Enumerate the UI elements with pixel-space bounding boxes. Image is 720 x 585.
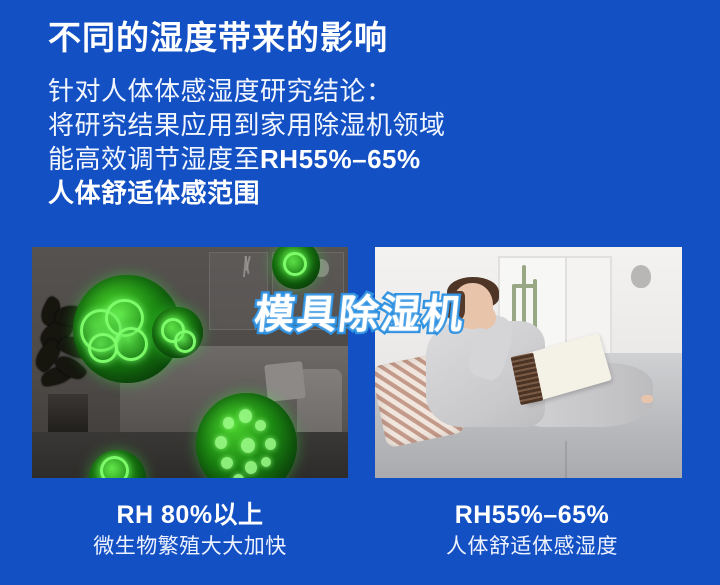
mold-dot [215,436,227,448]
dark-cushion [264,361,306,402]
body-line-1: 针对人体体感湿度研究结论： [48,74,668,108]
mold-dot [255,420,266,431]
caption-comfort-humidity: RH55%–65% 人体舒适体感湿度 [372,498,692,562]
plant-pot [48,394,88,432]
captions-row: RH 80%以上 微生物繁殖大大加快 RH55%–65% 人体舒适体感湿度 [0,498,720,578]
mold-dot [241,438,255,453]
poster-root: 不同的湿度带来的影响 针对人体体感湿度研究结论： 将研究结果应用到家用除湿机领域… [0,0,720,585]
mold-dot [261,457,271,467]
mold-cell [174,330,196,352]
body-copy: 针对人体体感湿度研究结论： 将研究结果应用到家用除湿机领域 能高效调节湿度至RH… [48,74,668,210]
mold-cell [114,327,148,361]
watermark-text: 模具除湿机 [252,282,468,340]
mold-dot [265,438,276,449]
mold-cell [88,333,118,363]
body-line-3-highlight: RH55%–65% [260,144,421,174]
body-line-3: 能高效调节湿度至RH55%–65% [48,142,668,176]
mold-dot [239,409,252,423]
woman-hand [475,306,496,329]
dark-floor [32,432,348,478]
mold-dot [245,461,257,473]
caption-title: RH 80%以上 [30,498,350,532]
mold-dot [233,474,244,478]
header-block: 不同的湿度带来的影响 针对人体体感湿度研究结论： 将研究结果应用到家用除湿机领域… [48,14,668,210]
caption-subtitle: 微生物繁殖大大加快 [30,532,350,562]
caption-title: RH55%–65% [372,498,692,532]
body-line-3-plain: 能高效调节湿度至 [48,144,260,174]
mold-dot [221,457,233,469]
page-title: 不同的湿度带来的影响 [48,14,668,62]
woman-foot [641,395,653,403]
mold-sphere-small [152,307,203,358]
body-line-4: 人体舒适体感范围 [48,176,668,210]
caption-high-humidity: RH 80%以上 微生物繁殖大大加快 [30,498,350,562]
mold-dot [223,417,234,428]
mold-cell [100,456,129,478]
mold-cell [283,252,307,276]
body-line-2: 将研究结果应用到家用除湿机领域 [48,108,668,142]
caption-subtitle: 人体舒适体感湿度 [372,532,692,562]
